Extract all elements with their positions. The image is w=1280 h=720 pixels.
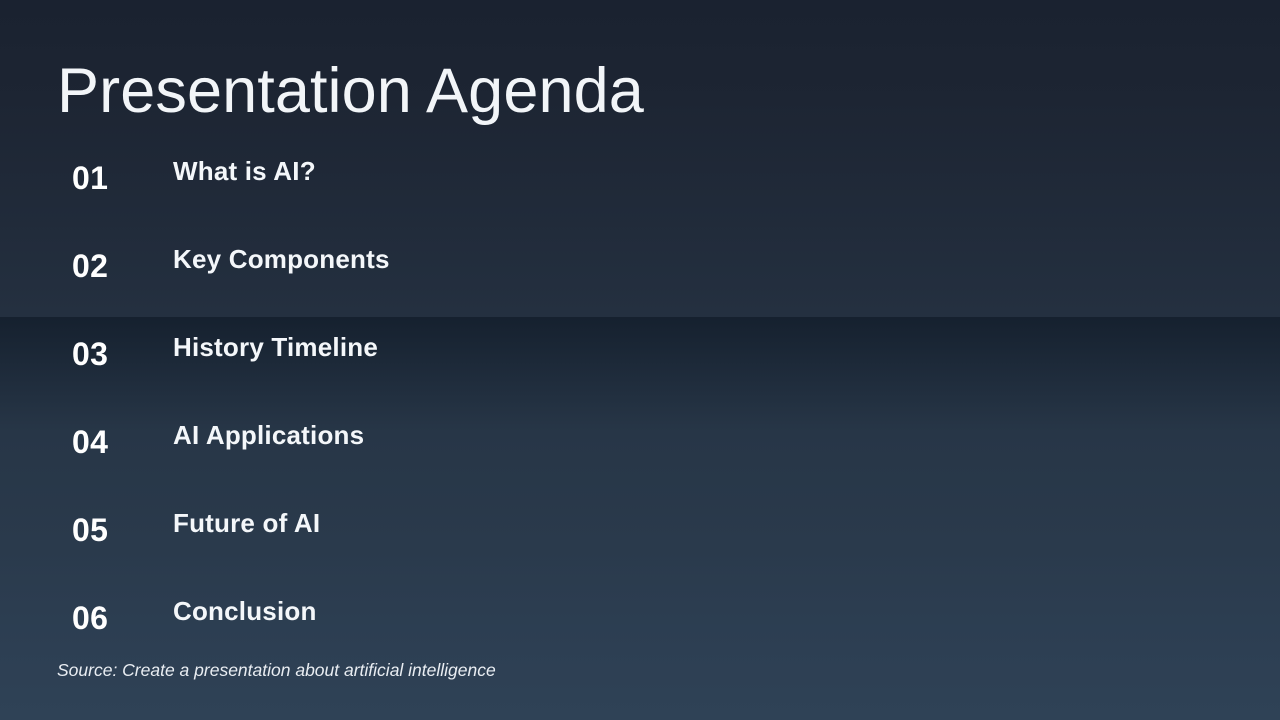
agenda-item-5[interactable]: 05 Future of AI [0,503,1280,591]
agenda-item-label: AI Applications [173,415,364,455]
agenda-item-number: 03 [72,334,158,374]
agenda-item-number: 02 [72,246,158,286]
presentation-slide: Presentation Agenda 01 What is AI? 02 Ke… [0,0,1280,720]
agenda-item-1[interactable]: 01 What is AI? [0,151,1280,239]
agenda-item-label: Key Components [173,239,390,279]
page-title: Presentation Agenda [57,56,644,127]
agenda-item-4[interactable]: 04 AI Applications [0,415,1280,503]
agenda-item-label: Conclusion [173,591,317,631]
agenda-item-label: Future of AI [173,503,320,543]
agenda-item-number: 06 [72,598,158,638]
agenda-item-number: 05 [72,510,158,550]
source-note: Source: Create a presentation about arti… [57,658,496,682]
agenda-item-3[interactable]: 03 History Timeline [0,327,1280,415]
agenda-item-number: 01 [72,158,158,198]
agenda-item-label: What is AI? [173,151,316,191]
agenda-item-number: 04 [72,422,158,462]
agenda-list: 01 What is AI? 02 Key Components 03 Hist… [0,151,1280,679]
agenda-item-label: History Timeline [173,327,378,367]
agenda-item-2[interactable]: 02 Key Components [0,239,1280,327]
